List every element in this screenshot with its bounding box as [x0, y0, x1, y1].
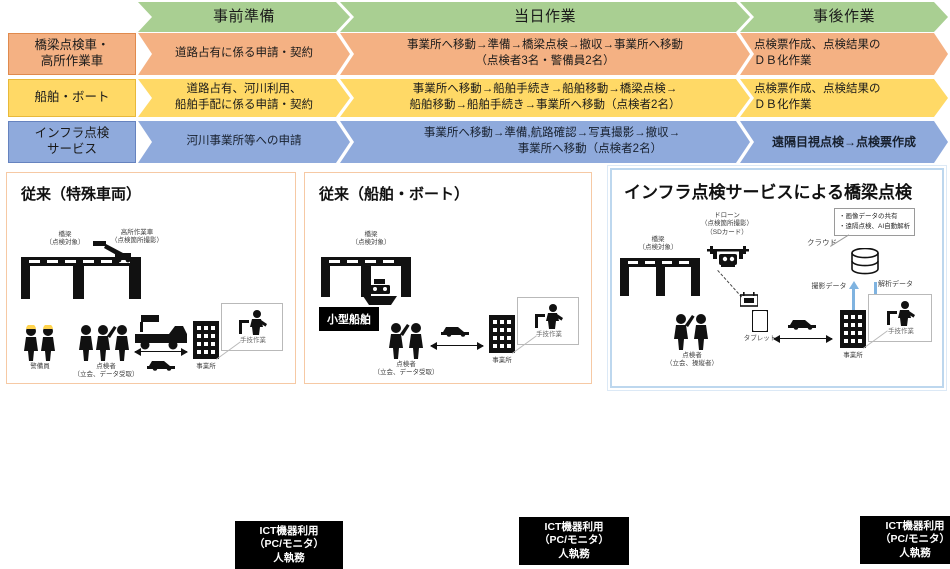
inspector-label-b: 点検者 （立会、データ受取） [363, 361, 449, 378]
row2-cell-day: 事業所へ移動→船舶手続き→船舶移動→橋梁点検→ 船舶移動→船舶手続き→事業所へ移… [340, 79, 750, 117]
row2-cell-pre: 道路占有、河川利用、 船舶手配に係る申請・契約 [138, 79, 350, 117]
cloud-database-icon [850, 248, 880, 280]
panel-conventional-vehicle-title: 従来（特殊車両） [21, 183, 141, 204]
bridge-label-c: 橋梁 （点検対象） [630, 236, 686, 253]
row3-cell-post: 遠隔目視点検→点検票作成 [740, 121, 948, 163]
drone-label-c: ドローン （点検箇所撮影） （SDカード） [684, 212, 770, 237]
office-building-icon-c [840, 310, 866, 348]
inspector-person-icon-a [79, 323, 129, 361]
bridge-label-b: 橋梁 （点検対象） [343, 231, 399, 248]
row1-cell-day-line1: 事業所へ移動→準備→橋梁点検→撤収→事業所へ移動 [407, 38, 683, 54]
bridge-icon [21, 257, 141, 301]
ict-callout-a: ICT機器利用 （PC/モニタ） 人執務 [235, 521, 343, 569]
row2-cell-post-line2: ＤＢ化作業 [754, 98, 881, 114]
row1-cell-day: 事業所へ移動→準備→橋梁点検→撤収→事業所へ移動 （点検者3名・警備員2名） [340, 33, 750, 75]
row1-cell-post-line2: ＤＢ化作業 [754, 54, 881, 70]
download-label: 解析データ [878, 280, 930, 289]
office-label-a: 事業所 [185, 363, 227, 371]
row3-cell-pre-text: 河川事業所等への申請 [179, 134, 310, 150]
inspector-person-icon-b [389, 321, 423, 359]
ict-callout-c: ICT機器利用 （PC/モニタ） 人執務 [860, 516, 950, 564]
panel-conventional-boat: 従来（船舶・ボート） 橋梁 （点検対象） 小型船舶 点検者 （立会、データ受取） [304, 172, 592, 384]
row-category-vehicle-line1: 橋梁点検車・ [34, 38, 109, 54]
office-label-c: 事業所 [832, 352, 874, 360]
handwork-label-b: 手技作業 [518, 331, 580, 339]
row2-cell-pre-line2: 船舶手配に係る申請・契約 [175, 98, 313, 114]
row3-cell-day-line1: 事業所へ移動→準備,航路確認→写真撮影→撤収→ [410, 126, 680, 142]
row-category-boat: 船舶・ボート [8, 79, 136, 117]
process-comparison-table: 事前準備 当日作業 事後作業 橋梁点検車・ 高所作業車 道路占有に係る申請・契約… [0, 0, 950, 166]
phase-header-day-label: 当日作業 [508, 8, 582, 26]
panel-infra-service: インフラ点検サービスによる橋梁点検 橋梁 （点検対象） ドローン （点検箇所撮影… [610, 168, 944, 388]
handwork-label-a: 手技作業 [222, 337, 284, 345]
row-category-infra-line1: インフラ点検 [35, 126, 110, 142]
upload-label: 撮影データ [800, 282, 858, 291]
tablet-icon [752, 310, 768, 332]
inspection-truck-icon [135, 315, 187, 355]
handwork-box-b: 手技作業 [517, 297, 579, 345]
row-category-infra-line2: サービス [35, 142, 110, 158]
small-boat-icon [363, 279, 397, 307]
desk-work-icon-b [532, 303, 566, 329]
row2-cell-day-line1: 事業所へ移動→船舶手続き→船舶移動→橋梁点検→ [410, 82, 681, 98]
phase-header-pre-label: 事前準備 [207, 8, 281, 26]
panel-conventional-vehicle: 従来（特殊車両） 橋梁 （点検対象） 高所作業車 （点検箇所撮影） [6, 172, 296, 384]
drone-control-link [717, 270, 742, 297]
travel-arrow-c [774, 338, 832, 339]
row1-cell-post-line1: 点検票作成、点検結果の [754, 38, 881, 54]
row2-cell-post-line1: 点検票作成、点検結果の [754, 82, 881, 98]
guard-label-a: 警備員 [17, 363, 63, 371]
aerial-work-vehicle-icon [93, 239, 135, 263]
office-label-b: 事業所 [481, 357, 523, 365]
handwork-box-c: 手技作業 [868, 294, 932, 342]
drone-icon [707, 246, 749, 270]
row1-cell-pre-text: 道路占有に係る申請・契約 [167, 46, 321, 62]
row-category-boat-line1: 船舶・ボート [34, 90, 109, 106]
row-category-vehicle-line2: 高所作業車 [34, 54, 109, 70]
row3-cell-day: 事業所へ移動→準備,航路確認→写真撮影→撤収→ 事業所へ移動（点検者2名） [340, 121, 750, 163]
row3-cell-day-line2: 事業所へ移動（点検者2名） [410, 142, 680, 158]
drone-controller-icon [740, 292, 758, 308]
bridge-icon-c [620, 258, 700, 298]
inspector-label-c: 点検者 （立会、操縦者） [650, 352, 734, 369]
travel-arrow-a [135, 351, 187, 352]
inspector-person-icon-c [674, 312, 708, 350]
row-category-vehicle: 橋梁点検車・ 高所作業車 [8, 33, 136, 75]
office-building-icon-a [193, 321, 219, 359]
small-boat-tag: 小型船舶 [319, 307, 379, 331]
row1-cell-post: 点検票作成、点検結果の ＤＢ化作業 [740, 33, 948, 75]
phase-header-post: 事後作業 [740, 2, 948, 32]
phase-header-post-label: 事後作業 [807, 8, 881, 26]
cloud-feature-note: ・画像データの共有 ・遠隔点検、AI自動解析 [834, 208, 915, 236]
row1-cell-day-line2: （点検者3名・警備員2名） [407, 54, 683, 70]
panel-conventional-boat-title: 従来（船舶・ボート） [319, 183, 469, 204]
travel-arrow-b [431, 345, 483, 346]
car-icon-c [788, 316, 818, 330]
office-building-icon-b [489, 315, 515, 353]
row1-cell-pre: 道路占有に係る申請・契約 [138, 33, 350, 75]
row3-cell-pre: 河川事業所等への申請 [138, 121, 350, 163]
row2-cell-post: 点検票作成、点検結果の ＤＢ化作業 [740, 79, 948, 117]
phase-header-day: 当日作業 [340, 2, 750, 32]
row-category-infra: インフラ点検 サービス [8, 121, 136, 163]
inspector-label-a: 点検者 （立会、データ受取） [65, 363, 147, 380]
car-icon-b [441, 323, 471, 337]
guard-person-icon [23, 325, 57, 361]
handwork-box-a: 手技作業 [221, 303, 283, 351]
desk-work-icon-c [884, 300, 918, 326]
desk-work-icon-a [236, 309, 270, 335]
row2-cell-pre-line1: 道路占有、河川利用、 [175, 82, 313, 98]
bridge-label-a: 橋梁 （点検対象） [37, 231, 93, 248]
row3-cell-post-text: 遠隔目視点検→点検票作成 [764, 134, 924, 150]
row2-cell-day-line2: 船舶移動→船舶手続き→事業所へ移動（点検者2名） [410, 98, 681, 114]
phase-header-pre: 事前準備 [138, 2, 350, 32]
car-icon-a [147, 357, 177, 371]
ict-callout-b: ICT機器利用 （PC/モニタ） 人執務 [519, 517, 629, 565]
panel-infra-service-title: インフラ点検サービスによる橋梁点検 [624, 178, 912, 203]
